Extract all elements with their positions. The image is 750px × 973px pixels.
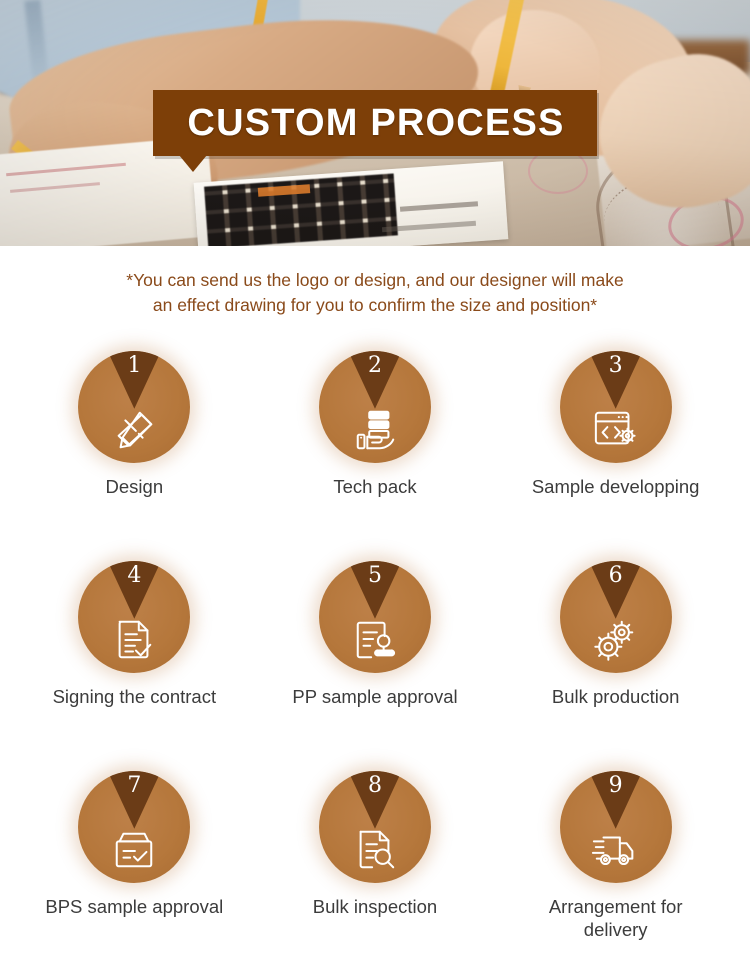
document-check-icon — [78, 611, 190, 669]
process-step-3: 3 Sample developp — [495, 351, 736, 561]
certificate-stamp-icon — [319, 611, 431, 669]
document-search-icon — [319, 821, 431, 879]
step-label-3: Sample developping — [528, 475, 704, 498]
hero-banner-section: CUSTOM PROCESS — [0, 0, 750, 246]
process-step-2: 2 Tech pack — [255, 351, 496, 561]
code-window-gear-icon — [560, 401, 672, 459]
step-label-4: Signing the contract — [49, 685, 221, 708]
banner-box: CUSTOM PROCESS — [153, 90, 596, 156]
process-step-5: 5 PP sample approval — [255, 561, 496, 771]
step-badge-3: 3 — [560, 351, 672, 463]
step-number-9: 9 — [560, 775, 672, 797]
process-step-9: 9 Arrangement for delivery — [495, 771, 736, 973]
step-number-1: 1 — [78, 355, 190, 377]
step-number-8: 8 — [319, 775, 431, 797]
process-step-4: 4 Signing the contract — [14, 561, 255, 771]
step-number-3: 3 — [560, 355, 672, 377]
step-badge-6: 6 — [560, 561, 672, 673]
process-step-6: 6 Bul — [495, 561, 736, 771]
banner-tail-icon — [179, 155, 207, 172]
subtitle-text: *You can send us the logo or design, and… — [0, 268, 750, 319]
process-steps-grid: 1 Design 2 — [0, 351, 750, 973]
step-badge-2: 2 — [319, 351, 431, 463]
step-badge-8: 8 — [319, 771, 431, 883]
process-step-1: 1 Design — [14, 351, 255, 561]
gears-icon — [560, 611, 672, 669]
step-badge-7: 7 — [78, 771, 190, 883]
pencil-ruler-icon — [78, 401, 190, 459]
step-label-7: BPS sample approval — [41, 895, 227, 918]
step-number-2: 2 — [319, 355, 431, 377]
box-check-icon — [78, 821, 190, 879]
step-badge-9: 9 — [560, 771, 672, 883]
step-badge-4: 4 — [78, 561, 190, 673]
subtitle-line-1: *You can send us the logo or design, and… — [58, 268, 692, 293]
step-number-7: 7 — [78, 775, 190, 797]
step-label-2: Tech pack — [329, 475, 420, 498]
step-label-8: Bulk inspection — [309, 895, 441, 918]
step-label-5: PP sample approval — [288, 685, 461, 708]
step-number-5: 5 — [319, 565, 431, 587]
custom-process-page: CUSTOM PROCESS *You can send us the logo… — [0, 0, 750, 973]
step-badge-5: 5 — [319, 561, 431, 673]
hand-holding-documents-icon — [319, 401, 431, 459]
step-number-4: 4 — [78, 565, 190, 587]
step-label-1: Design — [102, 475, 168, 498]
delivery-truck-icon — [560, 821, 672, 879]
step-number-6: 6 — [560, 565, 672, 587]
banner-container: CUSTOM PROCESS — [0, 90, 750, 156]
process-step-8: 8 Bulk inspection — [255, 771, 496, 973]
step-label-9: Arrangement for delivery — [545, 895, 687, 941]
subtitle-line-2: an effect drawing for you to confirm the… — [58, 293, 692, 318]
step-label-6: Bulk production — [548, 685, 684, 708]
step-badge-1: 1 — [78, 351, 190, 463]
page-title: CUSTOM PROCESS — [187, 104, 564, 142]
process-step-7: 7 BPS sample approval — [14, 771, 255, 973]
